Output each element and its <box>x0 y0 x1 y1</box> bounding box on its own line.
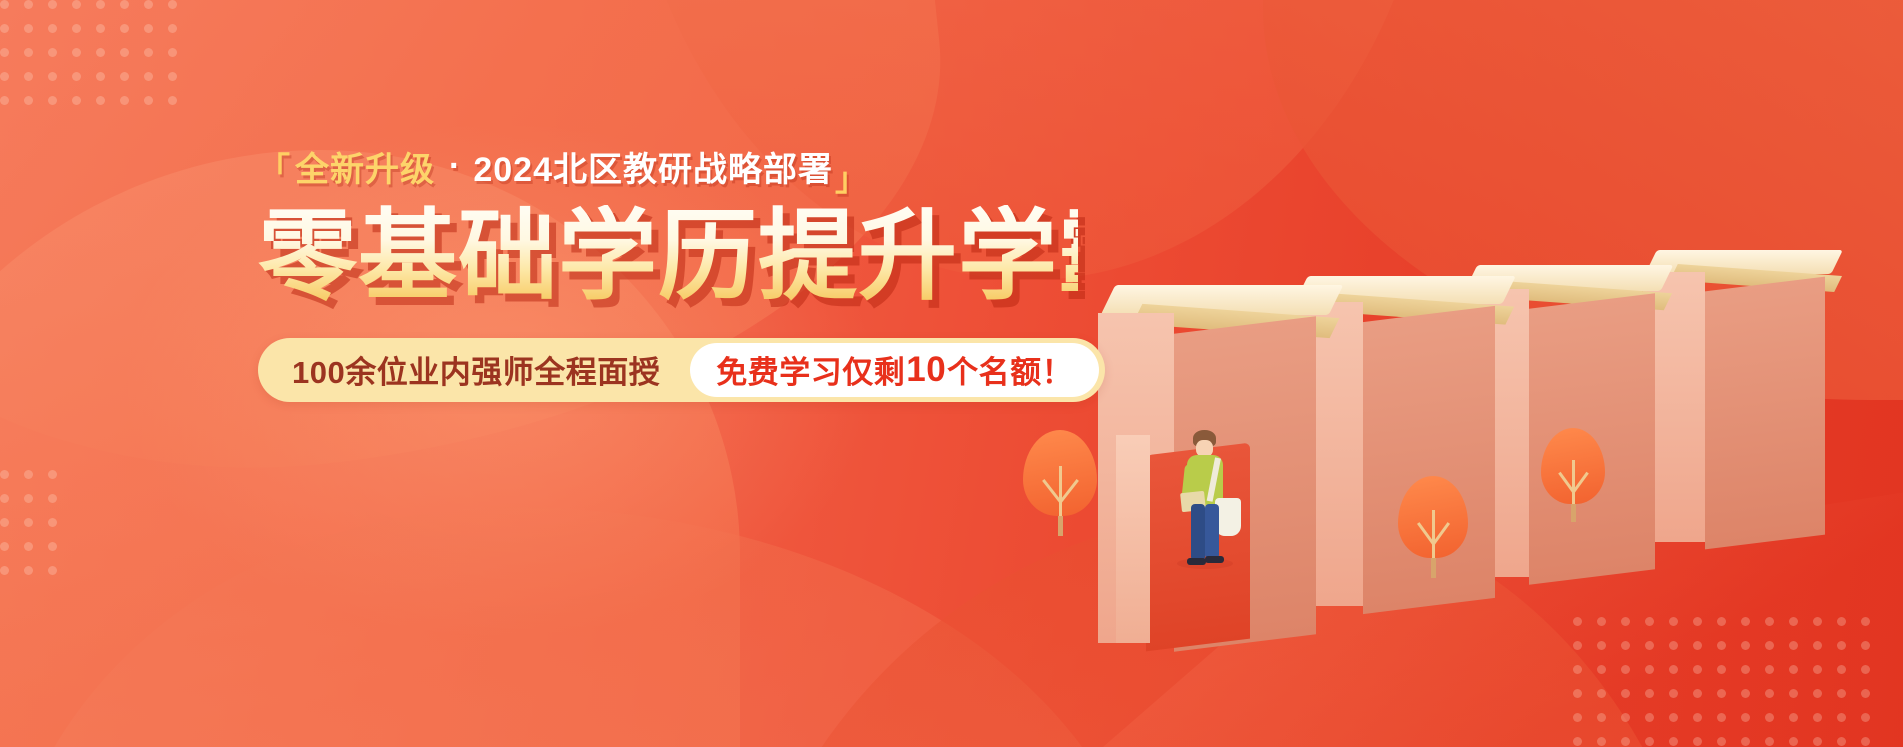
pill-right-capsule: 免费学习仅剩10个名额！ <box>690 343 1099 397</box>
page-title: 零基础学历提升学霸班 <box>258 205 1078 308</box>
tree-center <box>1398 476 1476 584</box>
bracket-close: 」 <box>835 154 868 200</box>
dot-pattern-left <box>0 470 60 590</box>
dot-pattern-top-left <box>0 0 190 110</box>
subtitle-rest: 2024北区教研战略部署 <box>473 142 833 191</box>
archway-inner-wall <box>1116 435 1150 643</box>
leg-right <box>1205 504 1219 558</box>
text-block: 「 全新升级 · 2024北区教研战略部署 」 零基础学历提升学霸班 100余位… <box>258 142 1078 402</box>
book-face-right <box>1705 277 1825 550</box>
pill-right-number: 10 <box>905 350 947 390</box>
illustration <box>1043 0 1903 747</box>
highlight-pill: 100余位业内强师全程面授 免费学习仅剩10个名额！ <box>258 338 1105 402</box>
tree-branch <box>1432 510 1435 564</box>
tree-trunk <box>1431 558 1436 578</box>
bracket-open: 「 <box>258 144 291 190</box>
promo-banner: 「 全新升级 · 2024北区教研战略部署 」 零基础学历提升学霸班 100余位… <box>0 0 1903 747</box>
subtitle-highlight: 全新升级 <box>295 142 435 191</box>
tree-trunk <box>1058 516 1063 536</box>
tree-trunk <box>1571 504 1576 522</box>
shoe-right <box>1205 556 1224 563</box>
subtitle-separator: · <box>449 147 461 186</box>
tree-branch <box>1059 466 1062 522</box>
pill-right-prefix: 免费学习仅剩 <box>716 347 905 392</box>
student-figure <box>1171 430 1261 570</box>
tree-branch <box>1572 460 1575 510</box>
tree-left <box>1023 430 1103 540</box>
pill-right-suffix: 个名额！ <box>947 347 1073 392</box>
leg-left <box>1191 504 1205 560</box>
pill-left-text: 100余位业内强师全程面授 <box>258 338 690 402</box>
shoe-left <box>1187 558 1206 565</box>
book-arch-4 <box>1643 250 1843 550</box>
tree-right <box>1541 428 1613 528</box>
subtitle: 「 全新升级 · 2024北区教研战略部署 」 <box>258 142 1078 191</box>
